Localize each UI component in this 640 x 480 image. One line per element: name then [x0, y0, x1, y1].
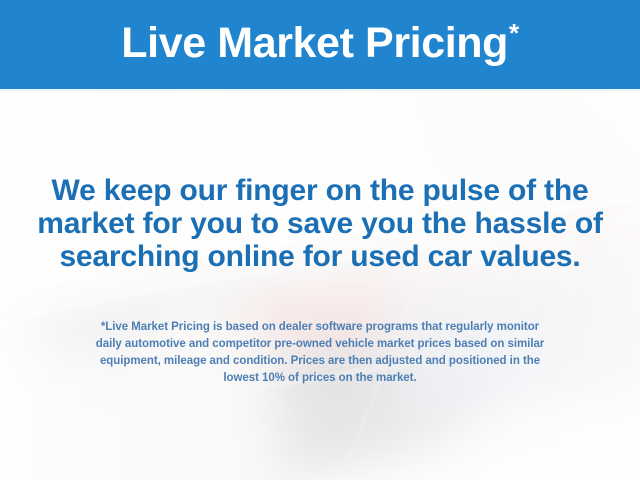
headline-line: searching online for used car values. [20, 240, 620, 273]
disclaimer-line: daily automotive and competitor pre-owne… [20, 336, 620, 353]
disclaimer-line: *Live Market Pricing is based on dealer … [20, 319, 620, 336]
disclaimer: *Live Market Pricing is based on dealer … [20, 319, 620, 387]
page-title-footnote-marker: * [509, 18, 519, 48]
disclaimer-line: equipment, mileage and condition. Prices… [20, 353, 620, 370]
headline: We keep our finger on the pulse of the m… [20, 174, 620, 273]
headline-line: market for you to save you the hassle of [20, 207, 620, 240]
headline-line: We keep our finger on the pulse of the [20, 174, 620, 207]
live-market-pricing-banner: Live Market Pricing* We keep our finger … [0, 0, 640, 480]
page-title-text: Live Market Pricing [121, 19, 508, 67]
page-title: Live Market Pricing* [121, 22, 518, 65]
content-area: We keep our finger on the pulse of the m… [0, 89, 640, 480]
disclaimer-line: lowest 10% of prices on the market. [20, 370, 620, 387]
header-band: Live Market Pricing* [0, 0, 640, 89]
header-underline [0, 89, 640, 91]
